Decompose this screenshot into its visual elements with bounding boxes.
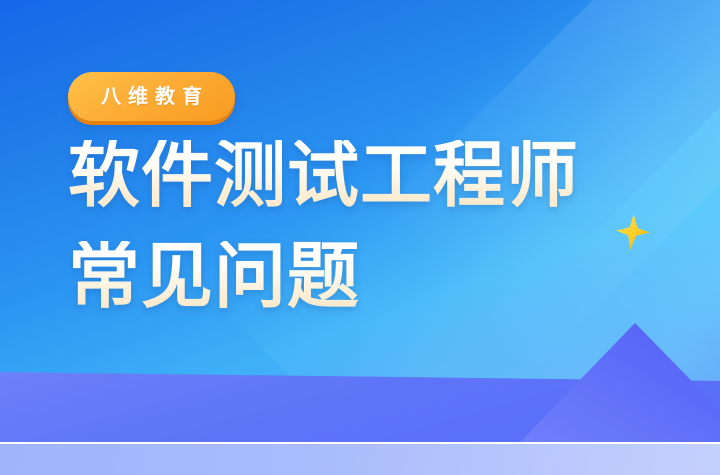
brand-badge: 八维教育 bbox=[68, 72, 235, 121]
promo-banner: 八维教育 软件测试工程师 常见问题 bbox=[0, 0, 720, 475]
banner-content: 八维教育 软件测试工程师 常见问题 bbox=[68, 0, 688, 475]
page-title-line-2: 常见问题 bbox=[68, 241, 708, 314]
page-title-line-1: 软件测试工程师 bbox=[68, 140, 708, 213]
brand-badge-label: 八维教育 bbox=[94, 87, 209, 107]
page-title: 软件测试工程师 常见问题 bbox=[68, 140, 708, 315]
